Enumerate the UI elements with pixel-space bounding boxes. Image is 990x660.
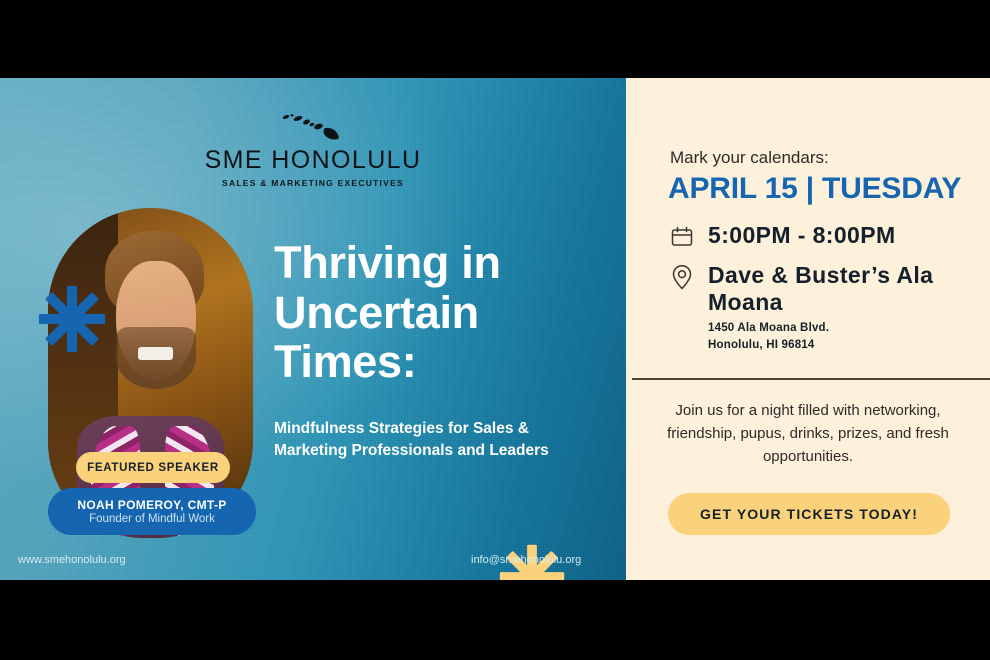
event-address: 1450 Ala Moana Blvd. Honolulu, HI 96814: [708, 320, 829, 353]
event-venue: Dave & Buster’s Ala Moana: [708, 262, 990, 315]
asterisk-blue-icon: [36, 283, 108, 355]
flyer-stage: SME HONOLULU SALES & MARKETING EXECUTIVE…: [0, 0, 990, 660]
featured-speaker-badge: FEATURED SPEAKER: [76, 452, 230, 483]
page-title: Thriving in Uncertain Times:: [274, 238, 604, 387]
left-panel: SME HONOLULU SALES & MARKETING EXECUTIVE…: [0, 78, 626, 580]
event-time-row: 5:00PM - 8:00PM: [670, 222, 896, 250]
logo-tagline: SALES & MARKETING EXECUTIVES: [0, 178, 626, 188]
event-description: Join us for a night filled with networki…: [658, 400, 958, 468]
section-divider: [632, 378, 990, 380]
speaker-name: NOAH POMEROY, CMT-P: [77, 498, 226, 512]
email-link[interactable]: info@smehonolulu.org: [471, 554, 581, 566]
website-link[interactable]: www.smehonolulu.org: [18, 554, 126, 566]
flyer: SME HONOLULU SALES & MARKETING EXECUTIVE…: [0, 78, 990, 580]
right-panel: Mark your calendars: APRIL 15 | TUESDAY …: [626, 78, 990, 580]
map-pin-icon: [670, 264, 694, 290]
speaker-role: Founder of Mindful Work: [89, 513, 215, 525]
kicker-text: Mark your calendars:: [670, 148, 829, 168]
event-location-row: Dave & Buster’s Ala Moana: [670, 262, 990, 315]
event-date: APRIL 15 | TUESDAY: [668, 172, 961, 206]
event-time: 5:00PM - 8:00PM: [708, 222, 896, 249]
footer-links: www.smehonolulu.org info@smehonolulu.org: [0, 554, 626, 572]
logo-name: SME HONOLULU: [0, 148, 626, 173]
brand-logo: SME HONOLULU SALES & MARKETING EXECUTIVE…: [0, 110, 626, 188]
address-line-1: 1450 Ala Moana Blvd.: [708, 320, 829, 337]
hawaiian-islands-icon: [277, 110, 349, 140]
get-tickets-button[interactable]: GET YOUR TICKETS TODAY!: [668, 493, 950, 535]
calendar-icon: [670, 224, 694, 250]
address-line-2: Honolulu, HI 96814: [708, 337, 829, 354]
subtitle: Mindfulness Strategies for Sales & Marke…: [274, 418, 574, 462]
speaker-name-badge: NOAH POMEROY, CMT-P Founder of Mindful W…: [48, 488, 256, 535]
